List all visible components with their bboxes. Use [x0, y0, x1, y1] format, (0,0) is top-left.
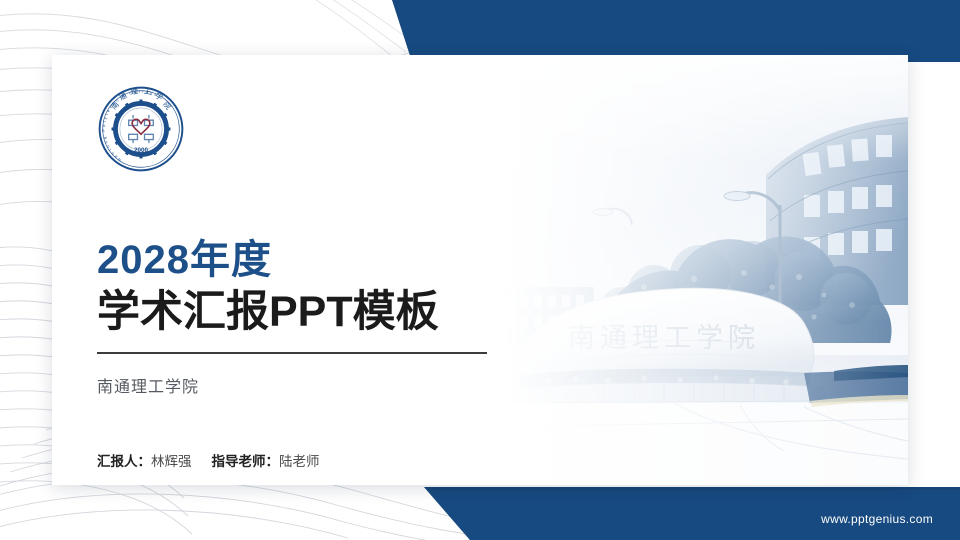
title-block: 2028年度 学术汇报PPT模板 南通理工学院	[97, 238, 489, 397]
watermark-url: www.pptgenius.com	[821, 512, 933, 526]
campus-photo-panel: 南通理工学院	[504, 55, 908, 485]
title-divider	[97, 352, 487, 354]
university-logo: 2000 南 通 理 工 学 院 N a n t	[97, 85, 185, 173]
campus-photo: 南通理工学院	[504, 55, 908, 485]
advisor-name: 陆老师	[279, 454, 320, 469]
blue-shape-top-right	[392, 0, 960, 62]
svg-text:o: o	[101, 124, 106, 127]
reporter-label: 汇报人：	[97, 454, 151, 469]
logo-year: 2000	[134, 147, 149, 154]
svg-text:n: n	[110, 151, 115, 156]
svg-text:l: l	[102, 120, 107, 122]
svg-text:P: P	[101, 129, 106, 132]
content-card: 2000 南 通 理 工 学 院 N a n t	[52, 55, 908, 485]
svg-text:g: g	[102, 136, 107, 139]
svg-text:n: n	[103, 141, 108, 145]
subtitle-university-name: 南通理工学院	[97, 373, 489, 397]
card-text-column: 2000 南 通 理 工 学 院 N a n t	[52, 55, 504, 485]
title-year: 2028年度	[97, 238, 489, 283]
svg-text:l: l	[139, 89, 140, 94]
presentation-slide: 2000 南 通 理 工 学 院 N a n t	[0, 0, 960, 540]
advisor-label: 指导老师：	[212, 454, 280, 469]
presenter-info-row: 汇报人：林辉强指导老师：陆老师	[97, 450, 320, 470]
title-main: 学术汇报PPT模板	[97, 287, 489, 338]
reporter-name: 林辉强	[151, 454, 192, 469]
